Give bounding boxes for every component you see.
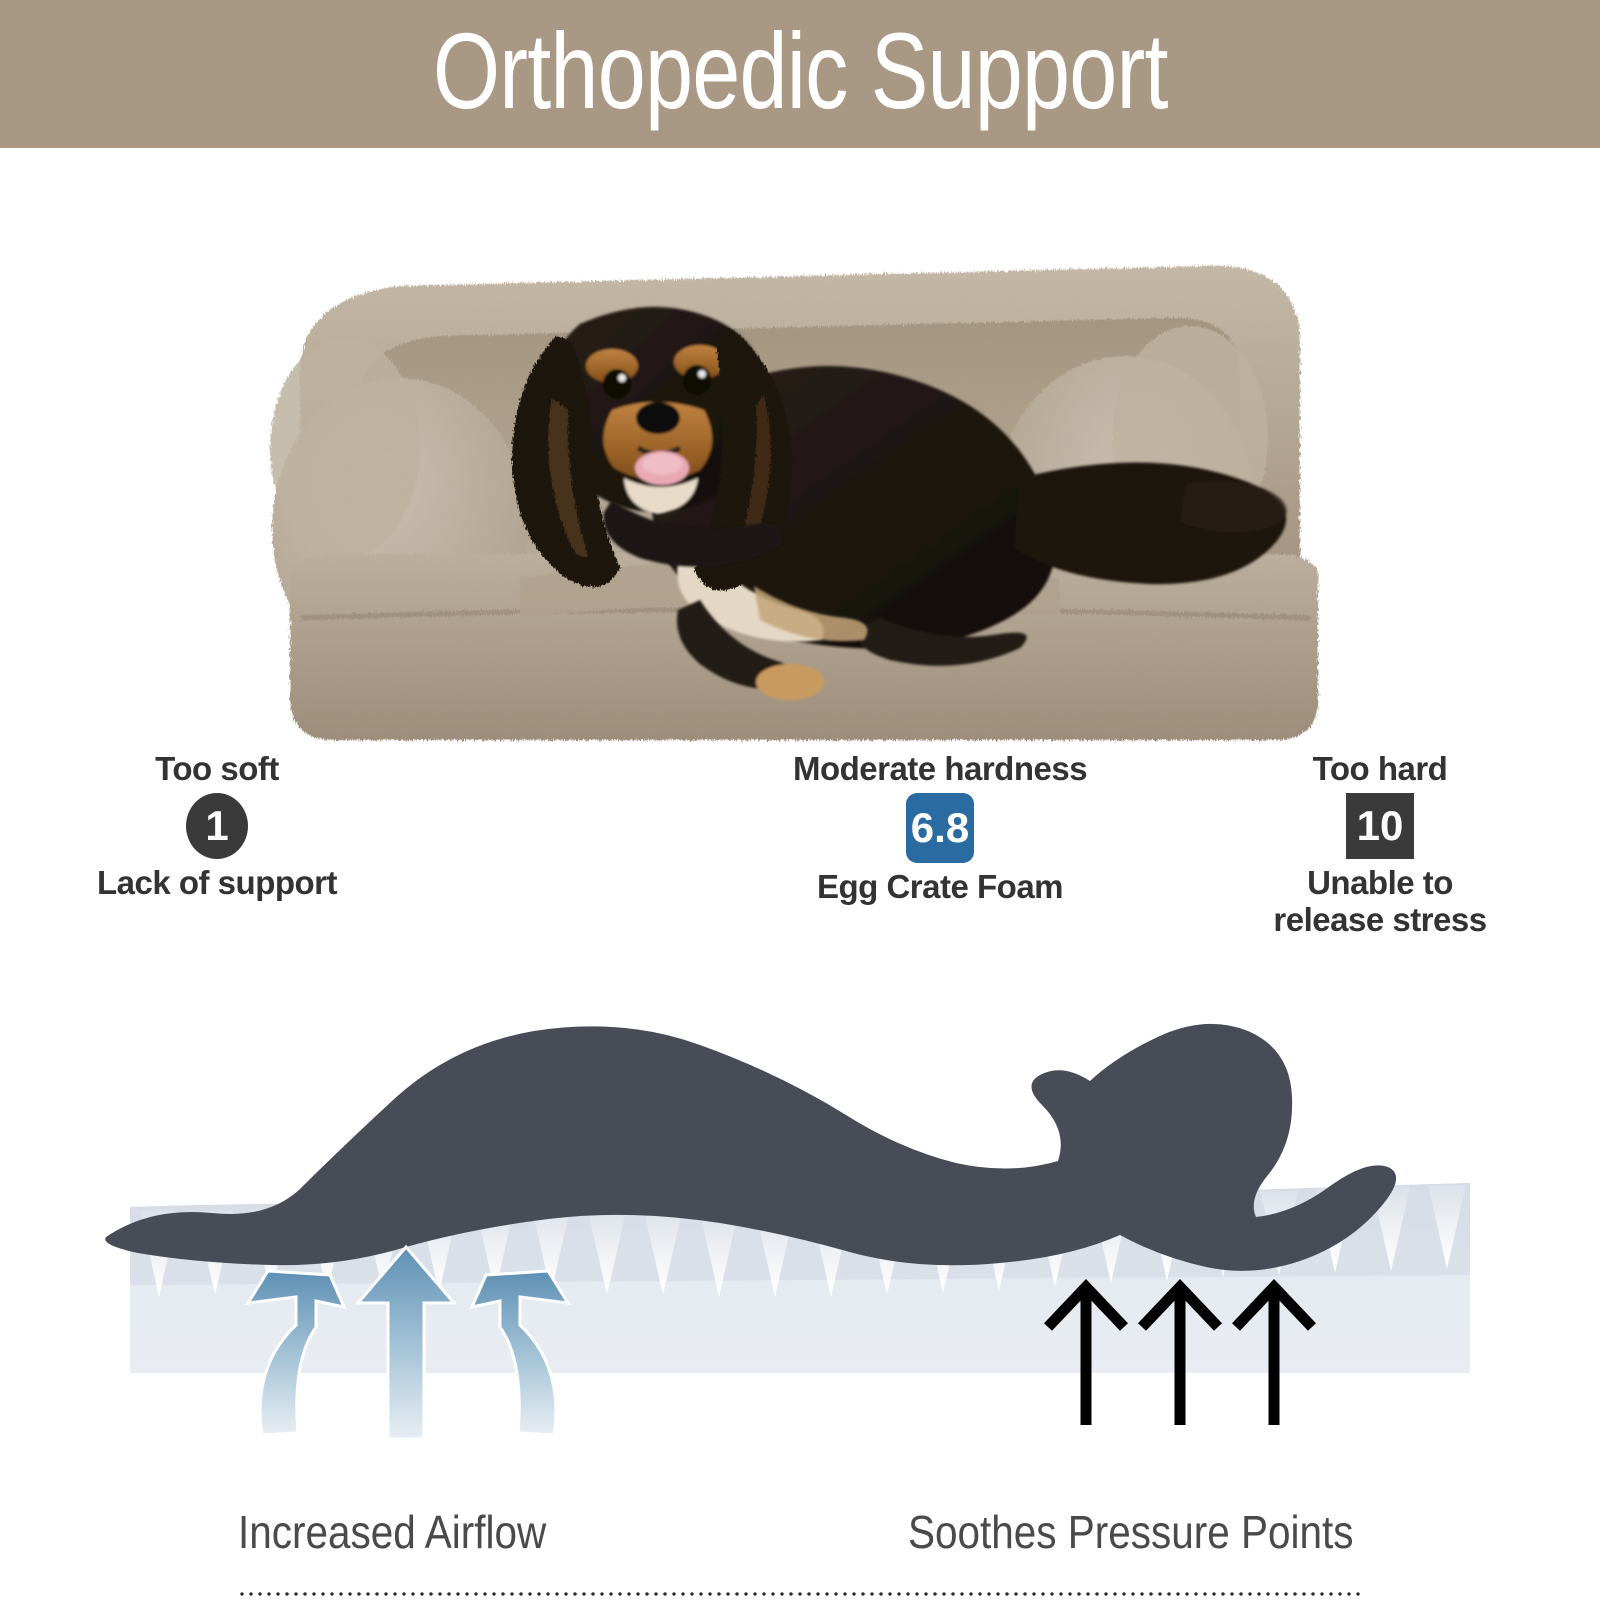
hardness-scale: Too soft 1 Lack of support Moderate hard… xyxy=(0,752,1600,972)
pressure-arrows xyxy=(1048,1287,1312,1425)
dog-on-bed-illustration xyxy=(0,148,1600,748)
scale-stop-too-hard: Too hard 10 Unable to release stress xyxy=(1230,752,1530,939)
foam-cross-section-diagram xyxy=(0,975,1600,1495)
scale-stop-bottom-label: Lack of support xyxy=(72,865,362,902)
hero-product-photo xyxy=(0,148,1600,748)
foam-diagram-svg xyxy=(0,975,1600,1495)
scale-stop-too-soft: Too soft 1 Lack of support xyxy=(72,752,362,902)
scale-badge-68: 6.8 xyxy=(906,793,974,863)
scale-stop-bottom-label-line1: Unable to xyxy=(1230,865,1530,902)
caption-increased-airflow: Increased Airflow xyxy=(238,1505,546,1559)
caption-soothes-pressure-points: Soothes Pressure Points xyxy=(908,1505,1354,1559)
scale-stop-bottom-label-line2: release stress xyxy=(1230,902,1530,939)
header-banner: Orthopedic Support xyxy=(0,0,1600,148)
scale-dotted-line xyxy=(240,1592,1360,1598)
diagram-captions: Increased Airflow Soothes Pressure Point… xyxy=(0,1505,1600,1585)
scale-stop-top-label: Moderate hardness xyxy=(740,752,1140,787)
scale-stop-top-label: Too soft xyxy=(72,752,362,787)
scale-badge-1: 1 xyxy=(186,793,248,859)
scale-stop-top-label: Too hard xyxy=(1230,752,1530,787)
page-title: Orthopedic Support xyxy=(433,17,1168,131)
scale-stop-moderate: Moderate hardness 6.8 Egg Crate Foam xyxy=(740,752,1140,906)
airflow-arrows xyxy=(248,1247,568,1439)
scale-badge-10: 10 xyxy=(1346,793,1414,859)
scale-stop-bottom-label: Egg Crate Foam xyxy=(740,869,1140,906)
